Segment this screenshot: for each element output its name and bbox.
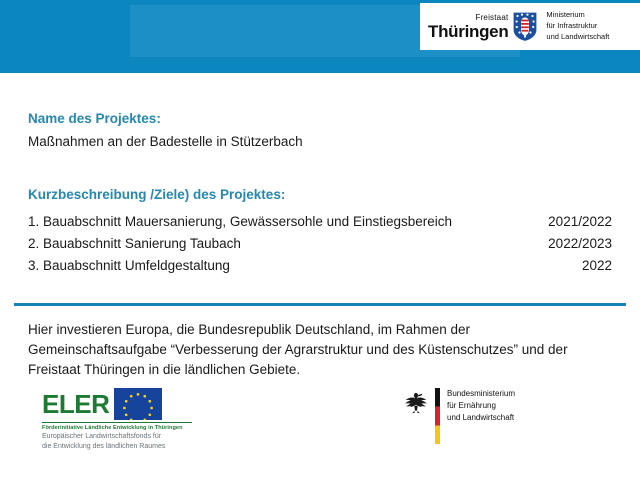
thuringia-coat-of-arms-icon (512, 11, 538, 42)
european-union-flag-icon (114, 388, 162, 420)
bmel-line-1: Bundesministerium (447, 388, 515, 400)
phase-label: 1. Bauabschnitt Mauersanierung, Gewässer… (28, 211, 548, 233)
thuringia-wordmark: Freistaat Thüringen (428, 14, 508, 40)
eler-logo-top: ELER (42, 388, 192, 420)
project-name-block: Name des Projektes: Maßnahmen an der Bad… (0, 111, 640, 149)
federal-eagle-icon (403, 388, 429, 414)
bmel-line-3: und Landwirtschaft (447, 412, 515, 424)
project-name-value: Maßnahmen an der Badestelle in Stützerba… (28, 134, 612, 149)
list-item: 2. Bauabschnitt Sanierung Taubach 2022/2… (28, 233, 612, 255)
thueringen-wordmark: Thüringen (428, 23, 508, 40)
investment-note-line-2: Gemeinschaftsaufgabe “Verbesserung der A… (28, 340, 612, 360)
project-name-heading: Name des Projektes: (28, 111, 612, 126)
german-flag-bar-icon (435, 388, 440, 444)
section-divider (14, 303, 626, 306)
freistaat-kicker: Freistaat (475, 14, 508, 22)
thuringia-state-logo: Freistaat Thüringen Ministerium (420, 3, 640, 50)
phase-year: 2021/2022 (548, 211, 612, 233)
investment-note-line-3: Freistaat Thüringen in die ländlichen Ge… (28, 360, 612, 380)
footer-logos: ELER Förde (0, 385, 640, 480)
construction-phase-list: 1. Bauabschnitt Mauersanierung, Gewässer… (28, 211, 612, 277)
list-item: 1. Bauabschnitt Mauersanierung, Gewässer… (28, 211, 612, 233)
phase-label: 2. Bauabschnitt Sanierung Taubach (28, 233, 548, 255)
list-item: 3. Bauabschnitt Umfeldgestaltung 2022 (28, 255, 612, 277)
eler-wordmark: ELER (42, 391, 109, 417)
ministry-name: Ministerium für Infrastruktur und Landwi… (546, 10, 609, 43)
ministry-line-3: und Landwirtschaft (546, 32, 609, 43)
eler-divider (42, 422, 192, 423)
short-description-heading: Kurzbeschreibung /Ziele) des Projektes: (28, 187, 612, 202)
investment-note-line-1: Hier investieren Europa, die Bundesrepub… (28, 320, 612, 340)
eler-logo: ELER Förde (42, 388, 192, 452)
ministry-line-1: Ministerium (546, 10, 609, 21)
phase-year: 2022 (582, 255, 612, 277)
phase-year: 2022/2023 (548, 233, 612, 255)
phase-label: 3. Bauabschnitt Umfeldgestaltung (28, 255, 582, 277)
bmel-line-2: für Ernährung (447, 400, 515, 412)
investment-note-block: Hier investieren Europa, die Bundesrepub… (0, 320, 640, 380)
eler-subtitle-line-1: Europäischer Landwirtschaftsfonds für (42, 432, 192, 441)
short-description-block: Kurzbeschreibung /Ziele) des Projektes: … (0, 187, 640, 277)
eler-subtitle-bold: Förderinitiative Ländliche Entwicklung i… (42, 425, 192, 431)
header-band: Freistaat Thüringen Ministerium (0, 0, 640, 73)
bmel-ministry-name: Bundesministerium für Ernährung und Land… (447, 388, 515, 424)
document-body: Name des Projektes: Maßnahmen an der Bad… (0, 73, 640, 379)
ministry-line-2: für Infrastruktur (546, 21, 609, 32)
eler-subtitle-line-2: die Entwicklung des ländlichen Raumes (42, 442, 192, 451)
bmel-logo: Bundesministerium für Ernährung und Land… (403, 387, 515, 444)
